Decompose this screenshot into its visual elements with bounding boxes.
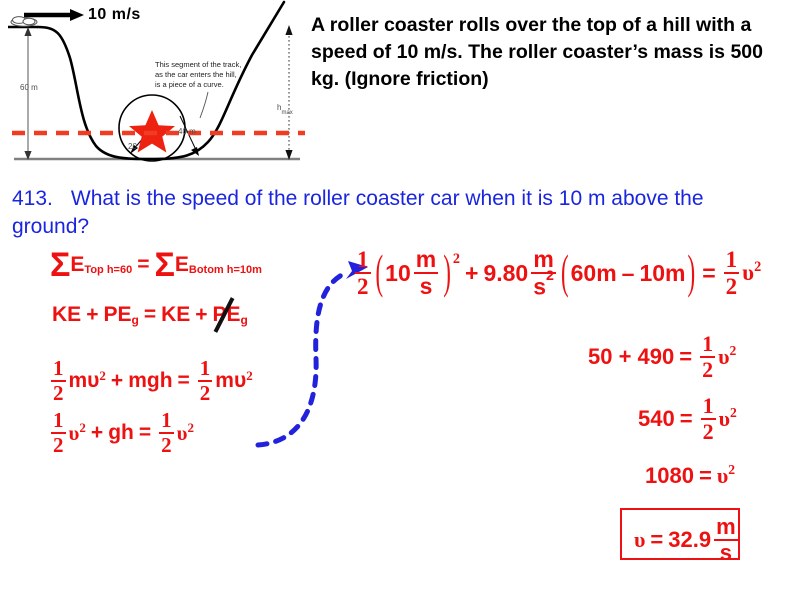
v-exponent-step-sum: 2 [730, 344, 737, 358]
equals-sign-main: = [702, 260, 715, 287]
problem-prompt: A roller coaster rolls over the top of a… [311, 12, 781, 93]
gh-term: gh [108, 421, 134, 445]
note-leader-line [200, 92, 208, 118]
pe-term-2-subscript: g [241, 314, 248, 326]
height-label-hmax: hmax [277, 103, 293, 115]
v-term-540: υ [719, 406, 730, 432]
radius-label-40m: 40 m [178, 127, 196, 136]
mv-term-1: mυ [69, 369, 100, 393]
fraction-answer-units: m s [714, 516, 738, 564]
height-2: 10m [639, 260, 685, 287]
mgh-term: mgh [128, 369, 172, 393]
numerator-step-sum: 1 [700, 333, 715, 356]
equals-sign-ke: = [144, 303, 156, 327]
fraction-m-over-s: m s [414, 248, 438, 298]
blue-dashed-arrow-path [258, 272, 348, 445]
denominator-540: 2 [701, 420, 716, 443]
track-note-line-1: This segment of the track, [155, 60, 241, 70]
equation-step-540: 540 = 1 2 υ2 [638, 395, 737, 443]
mv-exponent-2: 2 [246, 369, 253, 382]
fraction-half-540: 1 2 [701, 395, 716, 443]
step-1080-lhs: 1080 [645, 463, 694, 489]
v-exponent-1080: 2 [728, 463, 735, 477]
fraction-half-main: 1 2 [355, 248, 371, 298]
paren-exponent: 2 [453, 252, 460, 266]
equals-sign-energy: = [178, 369, 190, 393]
equals-sign-answer: = [650, 527, 663, 553]
equation-step-1080: 1080 = υ2 [645, 463, 735, 489]
gravity-value: 9.80 [483, 260, 528, 287]
equals-sign-vgh: = [139, 421, 151, 445]
unit-m-1: m [414, 248, 438, 272]
fraction-m-over-s2: m s2 [531, 248, 556, 299]
unit-s-2-base: s [533, 274, 546, 300]
equation-per-mass: 1 2 υ2 + gh = 1 2 υ2 [48, 410, 194, 456]
v-term-1080: υ [717, 463, 728, 489]
equation-final-answer: υ = 32.9 m s [634, 516, 741, 564]
roller-coaster-diagram: 10 m/s 60 m hmax 40 m 20 This segment of… [0, 0, 310, 175]
close-paren-2: ) [688, 247, 696, 300]
mv-exponent-1: 2 [99, 369, 106, 382]
numerator-main-rhs: 1 [724, 248, 740, 272]
plus-sign-2: + [195, 303, 207, 327]
v-term-step-sum: υ [718, 344, 729, 370]
denominator-main-rhs: 2 [724, 274, 740, 298]
numerator-1: 1 [51, 358, 66, 380]
equation-step-sum: 50 + 490 = 1 2 υ2 [588, 333, 736, 381]
height-label-60m: 60 m [20, 83, 38, 92]
equals-sign-sum: = [137, 253, 149, 277]
mv-term-2: mυ [215, 369, 246, 393]
v-exponent-2: 2 [188, 421, 195, 434]
denominator-4: 2 [159, 434, 174, 456]
numerator-4: 1 [159, 410, 174, 432]
sigma-right: Σ [154, 248, 174, 282]
denominator-main: 2 [355, 274, 371, 298]
question-number: 413. [12, 187, 53, 210]
equation-energy-sum: ΣETop h=60 = ΣEBotom h=10m [50, 248, 262, 282]
question-body: What is the speed of the roller coaster … [12, 187, 704, 238]
E-right-subscript: Botom h=10m [189, 265, 262, 276]
denominator-3: 2 [51, 434, 66, 456]
denominator-1: 2 [51, 382, 66, 404]
denominator-step-sum: 2 [700, 358, 715, 381]
E-left-subscript: Top h=60 [84, 265, 132, 276]
fraction-half-4: 1 2 [159, 410, 174, 456]
car-icon [11, 17, 37, 27]
equals-sign-step-sum: = [679, 344, 692, 370]
unit-s-1: s [418, 274, 435, 298]
height-1: 60m [571, 260, 617, 287]
track-note-line-2: as the car enters the hill, [155, 70, 241, 80]
ke-term-2: KE [161, 303, 190, 327]
answer-value: 32.9 [668, 527, 711, 553]
v-term-1: υ [69, 421, 80, 446]
sigma-left: Σ [50, 248, 70, 282]
fraction-half-2: 1 2 [198, 358, 213, 404]
open-paren-1: ( [376, 247, 384, 300]
answer-unit-s: s [718, 541, 734, 564]
fraction-half-1: 1 2 [51, 358, 66, 404]
question-text-block: 413.What is the speed of the roller coas… [12, 185, 752, 241]
v-exponent-1: 2 [79, 421, 86, 434]
speed-value: 10 [385, 260, 411, 287]
radius-arrow-40m [180, 116, 199, 156]
fraction-half-step-sum: 1 2 [700, 333, 715, 381]
fraction-half-main-rhs: 1 2 [724, 248, 740, 298]
E-right: E [175, 253, 189, 277]
answer-v-symbol: υ [634, 527, 645, 553]
plus-sign-energy: + [111, 369, 123, 393]
equals-sign-1080: = [699, 463, 712, 489]
numerator-main: 1 [355, 248, 371, 272]
answer-unit-m: m [714, 516, 738, 539]
height-dimension-hmax [285, 25, 292, 160]
v-exponent-main: 2 [754, 260, 761, 274]
fraction-half-3: 1 2 [51, 410, 66, 456]
numerator-540: 1 [701, 395, 716, 418]
hmax-subscript: max [281, 110, 292, 116]
equals-sign-540: = [680, 406, 693, 432]
plus-sign-main: + [465, 260, 478, 287]
ke-term-1: KE [52, 303, 81, 327]
unit-s-2-exponent: 2 [546, 268, 554, 284]
radius-label-20: 20 [128, 142, 137, 151]
step-540-lhs: 540 [638, 406, 675, 432]
plus-sign-vgh: + [91, 421, 103, 445]
plus-sign-1: + [86, 303, 98, 327]
E-left: E [70, 253, 84, 277]
minus-sign: – [622, 260, 635, 287]
close-paren-1: ) [443, 247, 451, 300]
step-sum-lhs: 50 + 490 [588, 344, 674, 370]
slide-canvas: 10 m/s 60 m hmax 40 m 20 This segment of… [0, 0, 800, 600]
track-note-line-3: is a piece of a curve. [155, 80, 241, 90]
denominator-2: 2 [198, 382, 213, 404]
track-note: This segment of the track, as the car en… [155, 60, 241, 90]
unit-s-2: s2 [531, 274, 556, 299]
v-term-2: υ [177, 421, 188, 446]
pe-term-1: PE [103, 303, 131, 327]
pe-term-1-subscript: g [131, 314, 138, 326]
numerator-3: 1 [51, 410, 66, 432]
speed-label: 10 m/s [88, 6, 141, 24]
v-term-main: υ [742, 260, 754, 286]
open-paren-2: ( [561, 247, 569, 300]
numerator-2: 1 [198, 358, 213, 380]
v-exponent-540: 2 [730, 406, 737, 420]
equation-mechanical-energy: 1 2 mυ2 + mgh = 1 2 mυ2 [48, 358, 253, 404]
equation-substitution: 1 2 ( 10 m s )2 + 9.80 m s2 ( 60m – 10m … [352, 248, 761, 299]
height-dimension-60m [24, 27, 31, 160]
